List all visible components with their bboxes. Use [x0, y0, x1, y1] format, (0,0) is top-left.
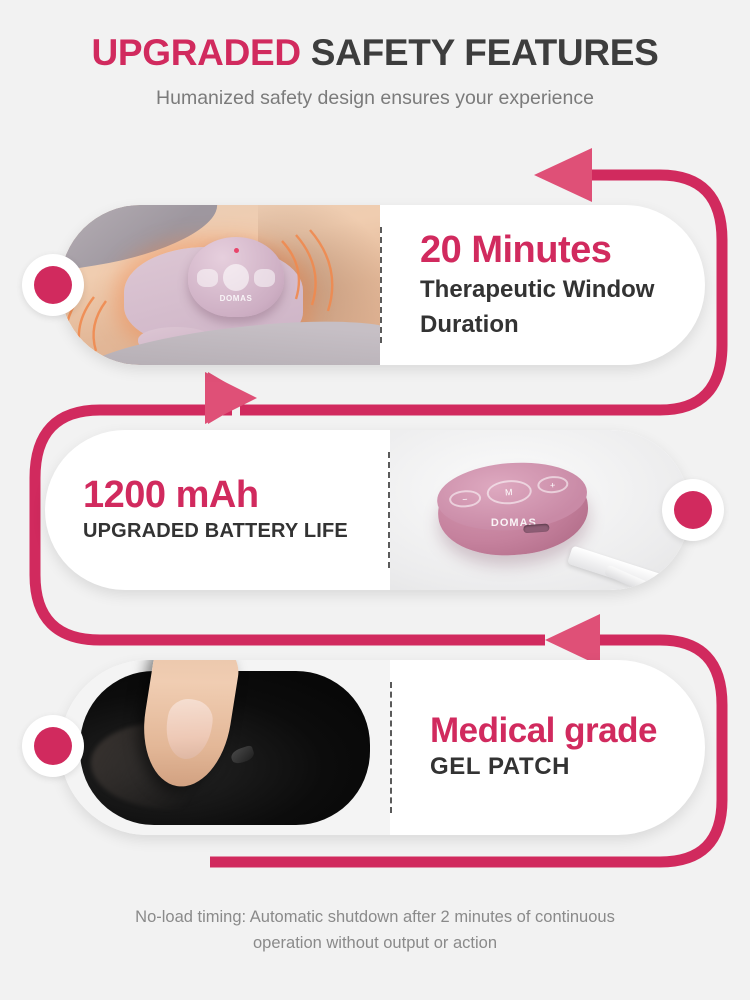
arrowhead-bottom-left [545, 614, 600, 666]
device-brand-label: DOMAS [439, 517, 589, 529]
card-subhead-line-1: Therapeutic Window [420, 276, 689, 304]
massager-on-abdomen-image: DOMAS [60, 205, 380, 365]
footer-line-1: No-load timing: Automatic shutdown after… [75, 905, 675, 931]
finger-on-gel-patch-image [60, 660, 390, 835]
header: UPGRADED SAFETY FEATURES Humanized safet… [0, 0, 750, 110]
page-subtitle: Humanized safety design ensures your exp… [0, 87, 750, 110]
device-mode-button: M [486, 479, 533, 506]
card-headline: 1200 mAh [83, 476, 372, 514]
page-title: UPGRADED SAFETY FEATURES [0, 32, 750, 74]
page-title-rest: SAFETY FEATURES [301, 32, 659, 73]
card-subhead-line-1: UPGRADED BATTERY LIFE [83, 520, 372, 544]
card-headline: Medical grade [430, 713, 689, 748]
step-badge-3 [22, 715, 84, 777]
arrowhead-mid-right-tail [208, 372, 252, 424]
card-text-panel: 20 Minutes Therapeutic Window Duration [382, 231, 705, 340]
massager-with-usb-cable-image: − M + DOMAS [390, 430, 690, 590]
feature-card-battery-life: 1200 mAh UPGRADED BATTERY LIFE − M + DOM… [45, 430, 690, 590]
infographic-page: UPGRADED SAFETY FEATURES Humanized safet… [0, 0, 750, 1000]
step-badge-1 [22, 254, 84, 316]
footer-line-2: operation without output or action [75, 931, 675, 957]
device-plus-button: + [536, 475, 569, 494]
arrowhead-top-left [534, 148, 592, 202]
vibration-waves-icon [60, 205, 380, 365]
arrowhead-mid-right [205, 372, 257, 424]
card-headline: 20 Minutes [420, 231, 689, 269]
feature-card-gel-patch: Medical grade GEL PATCH [60, 660, 705, 835]
card-text-panel: Medical grade GEL PATCH [392, 713, 705, 781]
step-badge-2 [662, 479, 724, 541]
page-title-accent: UPGRADED [91, 32, 300, 73]
usb-cable [567, 546, 670, 590]
device-minus-button: − [449, 490, 482, 509]
feature-card-therapeutic-window: DOMAS 20 Minutes Therapeutic W [60, 205, 705, 365]
card-subhead-line-2: Duration [420, 311, 689, 339]
card-subhead-line-1: GEL PATCH [430, 753, 689, 781]
usb-port [523, 524, 549, 534]
card-text-panel: 1200 mAh UPGRADED BATTERY LIFE [45, 476, 388, 544]
footer-note: No-load timing: Automatic shutdown after… [75, 905, 675, 956]
